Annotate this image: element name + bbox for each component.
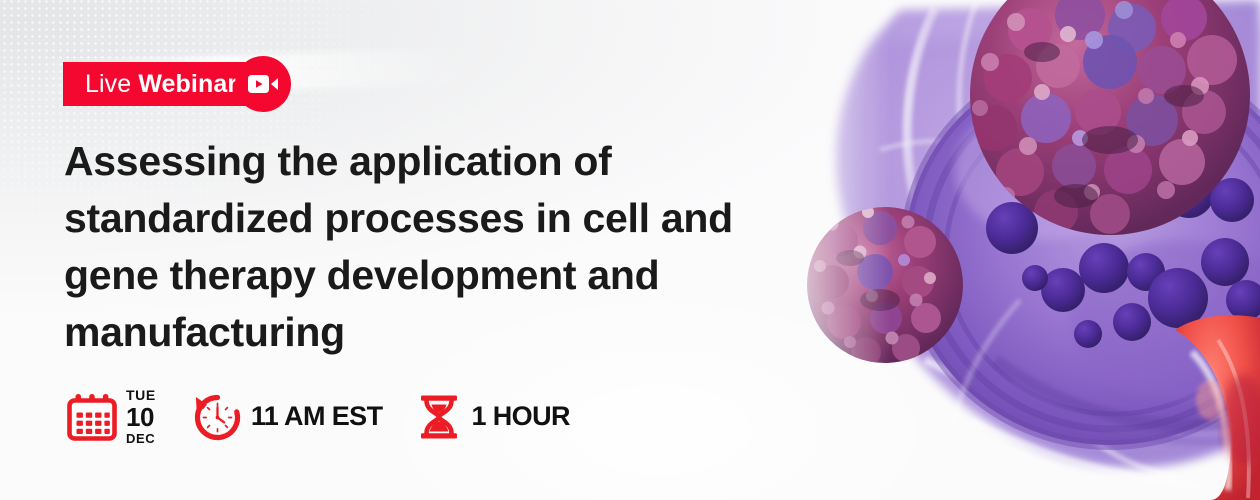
badge-label-webinar: Webinar — [138, 70, 237, 98]
date-day: 10 — [126, 404, 154, 430]
calendar-icon — [66, 391, 118, 443]
meta-time: 11 AM EST — [190, 391, 383, 443]
live-webinar-badge: Live Webinar — [63, 62, 277, 106]
meta-date: TUE 10 DEC — [66, 388, 156, 445]
date-text-block: TUE 10 DEC — [126, 388, 156, 445]
badge-label: Live Webinar — [85, 72, 237, 97]
webinar-meta-row: TUE 10 DEC — [66, 388, 570, 445]
webinar-banner: Live Webinar Assessing the application o… — [0, 0, 1260, 500]
hourglass-icon — [416, 391, 462, 443]
date-month: DEC — [126, 432, 155, 445]
meta-duration: 1 HOUR — [416, 391, 569, 443]
badge-label-live: Live — [85, 70, 131, 98]
page-title: Assessing the application of standardize… — [64, 133, 784, 361]
cell-and-virus-illustration — [780, 0, 1260, 500]
duration-label: 1 HOUR — [471, 401, 569, 432]
date-weekday: TUE — [126, 388, 156, 402]
clock-icon — [190, 391, 242, 443]
video-camera-icon — [235, 56, 291, 112]
time-label: 11 AM EST — [251, 401, 383, 432]
